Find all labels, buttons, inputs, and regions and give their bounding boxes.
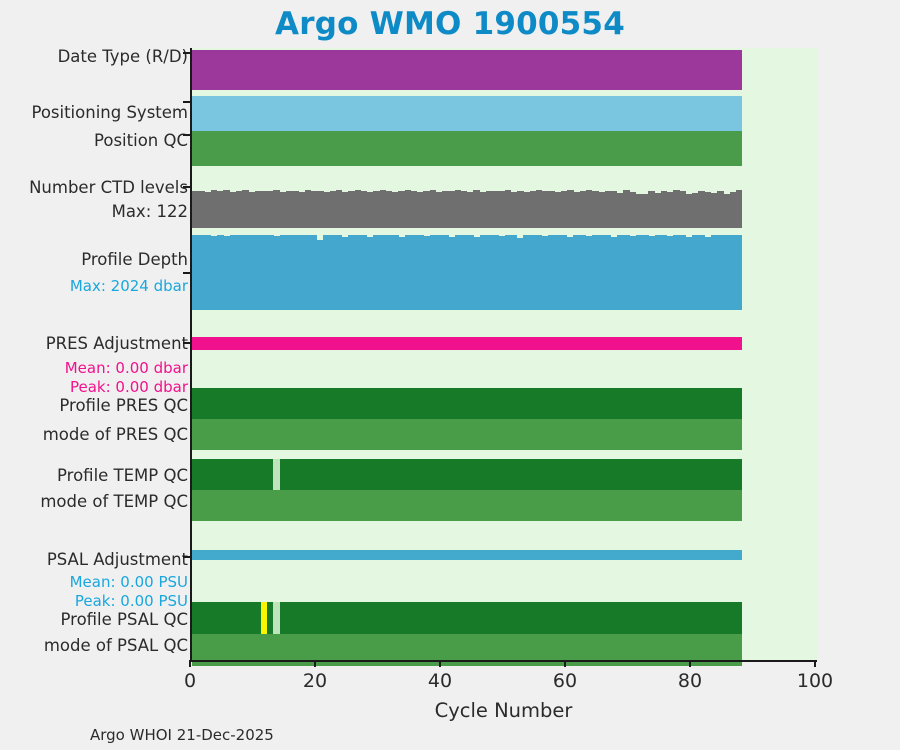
y-axis-tick [183, 186, 191, 188]
ylabel-ctd-levels-max: Max: 122 [112, 202, 188, 221]
series-row [192, 490, 817, 521]
series-row [192, 337, 817, 350]
plot-area [190, 48, 817, 660]
x-axis-tick-label: 80 [678, 670, 702, 692]
ylabel-pres-adjustment: PRES Adjustment [46, 334, 188, 353]
x-axis-tick-label: 20 [303, 670, 327, 692]
series-block [192, 550, 742, 560]
series-bar [736, 190, 743, 228]
x-axis-line [190, 660, 817, 662]
series-row [192, 131, 817, 166]
series-row [192, 550, 817, 560]
qc-flag-marker [273, 602, 279, 634]
x-axis-tick [189, 660, 191, 667]
series-row [192, 602, 817, 634]
ylabel-psal-adjustment: PSAL Adjustment [47, 550, 188, 569]
ylabel-profile-depth-max: Max: 2024 dbar [70, 277, 188, 296]
x-axis-tick [814, 660, 816, 667]
ylabel-position-qc: Position QC [94, 131, 188, 150]
series-block [192, 388, 742, 419]
qc-flag-marker [261, 602, 267, 634]
x-axis-tick-label: 100 [797, 670, 833, 692]
series-row [192, 235, 817, 310]
series-row [192, 459, 817, 490]
series-block [192, 419, 742, 450]
x-axis-tick [314, 660, 316, 667]
y-axis-tick [183, 556, 191, 558]
series-bar [736, 235, 743, 310]
series-row [192, 50, 817, 90]
ylabel-date-type: Date Type (R/D) [58, 47, 188, 66]
x-axis-tick [439, 660, 441, 667]
series-block [192, 96, 742, 131]
y-axis-tick [183, 272, 191, 274]
series-row [192, 190, 817, 228]
y-axis-tick [183, 101, 191, 103]
ylabel-pres-peak: Peak: 0.00 dbar [70, 378, 188, 397]
series-row [192, 96, 817, 131]
argo-profile-summary-figure: Argo WMO 1900554 Date Type (R/D)Position… [0, 0, 900, 750]
qc-flag-marker [273, 459, 279, 490]
series-block [192, 337, 742, 350]
figure-footer: Argo WHOI 21-Dec-2025 [90, 726, 274, 744]
ylabel-mode-temp-qc: mode of TEMP QC [40, 492, 188, 511]
series-row [192, 388, 817, 419]
ylabel-pres-mean: Mean: 0.00 dbar [65, 359, 188, 378]
ylabel-mode-psal-qc: mode of PSAL QC [44, 636, 188, 655]
x-axis-tick-label: 0 [184, 670, 196, 692]
x-axis-title: Cycle Number [190, 699, 817, 722]
series-block [192, 131, 742, 166]
ylabel-psal-peak: Peak: 0.00 PSU [75, 592, 188, 611]
x-axis-tick [564, 660, 566, 667]
ylabel-profile-pres-qc: Profile PRES QC [59, 396, 188, 415]
x-axis-tick [689, 660, 691, 667]
ylabel-profile-depth: Profile Depth [81, 250, 188, 269]
ylabel-profile-psal-qc: Profile PSAL QC [60, 610, 188, 629]
y-axis-tick [183, 52, 191, 54]
page-title: Argo WMO 1900554 [0, 6, 900, 42]
ylabel-psal-mean: Mean: 0.00 PSU [70, 573, 188, 592]
ylabel-positioning-system: Positioning System [31, 103, 188, 122]
ylabel-mode-pres-qc: mode of PRES QC [43, 425, 188, 444]
series-block [192, 50, 742, 90]
y-axis-tick [183, 342, 191, 344]
x-axis-tick-label: 40 [428, 670, 452, 692]
ylabel-number-ctd-levels: Number CTD levels [29, 178, 188, 197]
series-block [192, 490, 742, 521]
x-axis-tick-label: 60 [553, 670, 577, 692]
ylabel-profile-temp-qc: Profile TEMP QC [57, 466, 188, 485]
y-axis-tick [183, 134, 191, 136]
series-row [192, 419, 817, 450]
